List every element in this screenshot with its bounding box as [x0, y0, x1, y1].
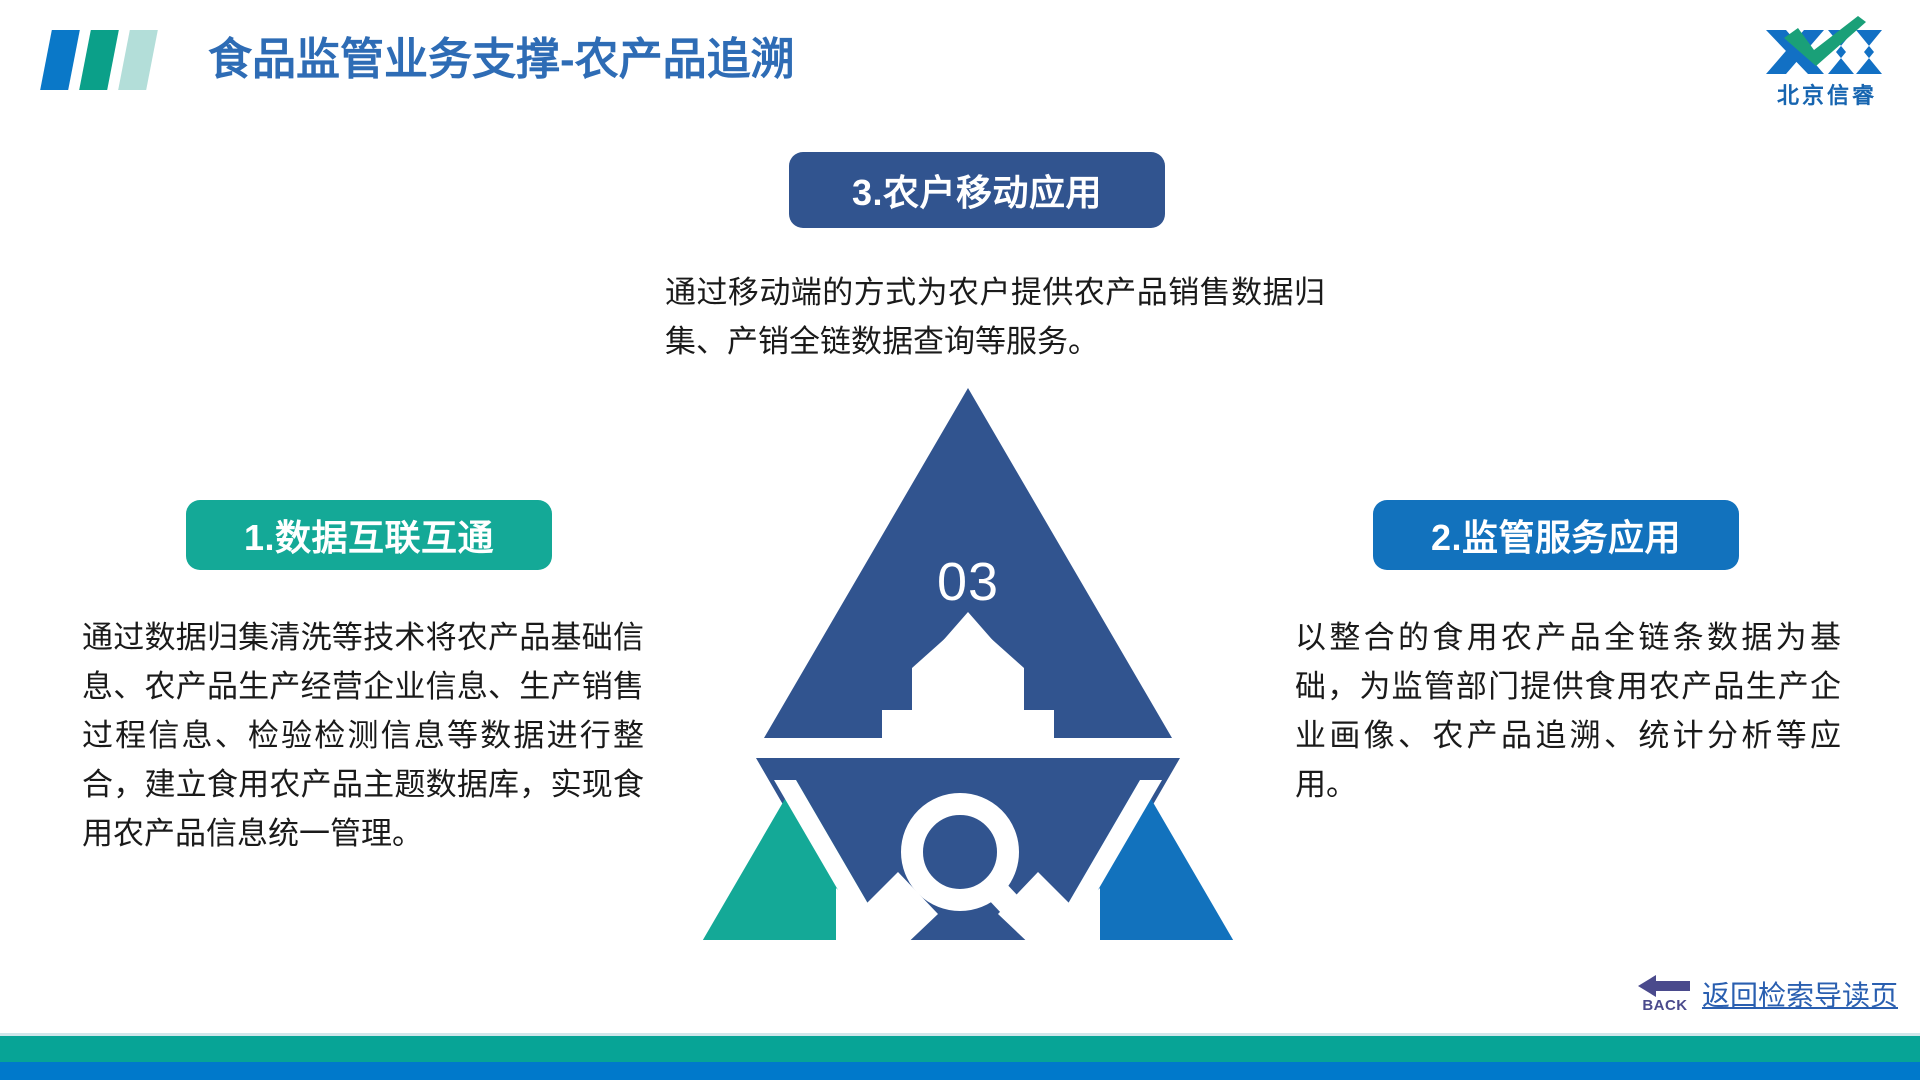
back-link[interactable]: BACK 返回检索导读页 [1638, 972, 1898, 1016]
body-text-section-2: 以整合的食用农产品全链条数据为基础，为监管部门提供食用农产品生产企业画像、农产品… [1295, 613, 1841, 809]
logo-wordmark: 北京信睿 [1752, 78, 1902, 110]
accent-bar-teal [79, 30, 119, 90]
label-03: 03 [937, 552, 999, 612]
accent-bar-blue [40, 30, 80, 90]
badge-section-2: 2.监管服务应用 [1373, 500, 1739, 570]
badge-section-1: 1.数据互联互通 [186, 500, 552, 570]
footer-band-teal [0, 1036, 1920, 1062]
back-icon-label: BACK [1638, 997, 1692, 1014]
body-text-section-3: 通过移动端的方式为农户提供农产品销售数据归集、产销全链数据查询等服务。 [665, 268, 1325, 366]
logo-mark-icon [1762, 16, 1892, 78]
page-title: 食品监管业务支撑-农产品追溯 [208, 30, 795, 90]
body-text-section-1: 通过数据归集清洗等技术将农产品基础信息、农产品生产经营企业信息、生产销售过程信息… [82, 613, 644, 858]
back-link-label[interactable]: 返回检索导读页 [1702, 974, 1898, 1014]
triangle-cycle-diagram: 03 01 02 [620, 380, 1320, 940]
footer-band-blue [0, 1062, 1920, 1080]
badge-section-3: 3.农户移动应用 [789, 152, 1165, 228]
back-arrow-icon[interactable]: BACK [1638, 973, 1692, 1015]
accent-bar-light-teal [118, 30, 158, 90]
header-accent-bars [42, 30, 167, 90]
company-logo: 北京信睿 [1752, 16, 1902, 108]
